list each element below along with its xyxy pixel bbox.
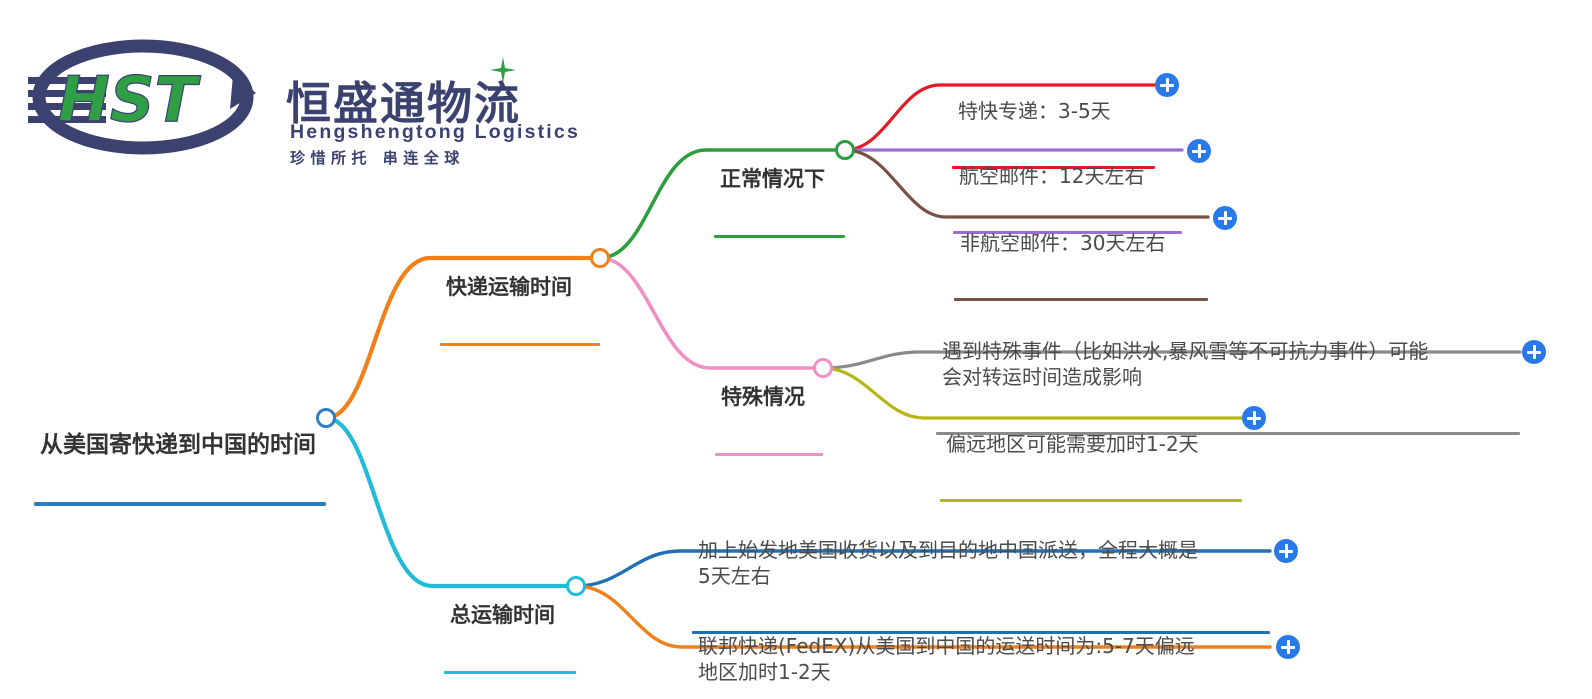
branch-label: 总运输时间: [444, 602, 576, 630]
expand-button-remote-area-surcharge[interactable]: [1242, 406, 1266, 430]
expand-button-air-mail[interactable]: [1187, 139, 1211, 163]
branch-underline: [440, 343, 600, 347]
leaf-label: 偏远地区可能需要加时1-2天: [940, 432, 1242, 459]
leaf-label: 航空邮件：12天左右: [953, 164, 1182, 191]
subbranch-node-special-conditions[interactable]: 特殊情况: [715, 343, 823, 497]
leaf-node-fedex-estimate[interactable]: 联邦快递(FedEX)从美国到中国的运送时间为:5-7天偏远 地区加时1-2天: [692, 593, 1270, 699]
leaf-label: 联邦快递(FedEX)从美国到中国的运送时间为:5-7天偏远 地区加时1-2天: [692, 634, 1270, 686]
subbranch-dot-normal-conditions[interactable]: [835, 140, 855, 160]
expand-button-express-courier[interactable]: [1155, 73, 1179, 97]
leaf-label: 特快专递：3-5天: [952, 99, 1155, 126]
mindmap-canvas: HST 恒盛通物流 Hengshengtong Logistics 珍惜所托 串…: [0, 0, 1592, 699]
svg-text:HST: HST: [58, 63, 202, 136]
company-logo: HST 恒盛通物流 Hengshengtong Logistics 珍惜所托 串…: [28, 33, 548, 163]
root-underline: [34, 502, 326, 506]
subbranch-node-normal-conditions[interactable]: 正常情况下: [714, 125, 845, 279]
leaf-label: 遇到特殊事件（比如洪水,暴风雪等不可抗力事件）可能 会对转运时间造成影响: [936, 339, 1520, 391]
branch-label: 快递运输时间: [440, 274, 600, 302]
expand-button-non-air-mail[interactable]: [1213, 206, 1237, 230]
expand-button-force-majeure[interactable]: [1522, 340, 1546, 364]
mindmap-root-node[interactable]: 从美国寄快递到中国的时间: [34, 390, 326, 547]
branch-node-total-transit-time[interactable]: 总运输时间: [444, 561, 576, 699]
subbranch-label: 正常情况下: [714, 166, 845, 194]
subbranch-underline: [714, 235, 845, 239]
expand-button-door-to-door-estimate[interactable]: [1274, 539, 1298, 563]
root-label: 从美国寄快递到中国的时间: [34, 431, 326, 461]
branch-node-express-transit-time[interactable]: 快递运输时间: [440, 233, 600, 387]
hst-logo-mark: HST: [28, 37, 258, 157]
subbranch-underline: [715, 453, 823, 457]
root-node-dot[interactable]: [316, 408, 336, 428]
expand-button-fedex-estimate[interactable]: [1276, 635, 1300, 659]
sparkle-icon: [490, 57, 516, 83]
branch-dot-total-transit-time[interactable]: [566, 576, 586, 596]
subbranch-label: 特殊情况: [715, 384, 823, 412]
branch-underline: [444, 671, 576, 675]
leaf-label: 非航空邮件：30天左右: [954, 231, 1208, 258]
branch-dot-express-transit-time[interactable]: [590, 248, 610, 268]
leaf-label: 加上始发地美国收货以及到目的地中国派送，全程大概是 5天左右: [692, 538, 1270, 590]
logo-slogan: 珍惜所托 串连全球: [290, 147, 465, 168]
logo-company-en: Hengshengtong Logistics: [290, 121, 580, 144]
subbranch-dot-special-conditions[interactable]: [813, 358, 833, 378]
